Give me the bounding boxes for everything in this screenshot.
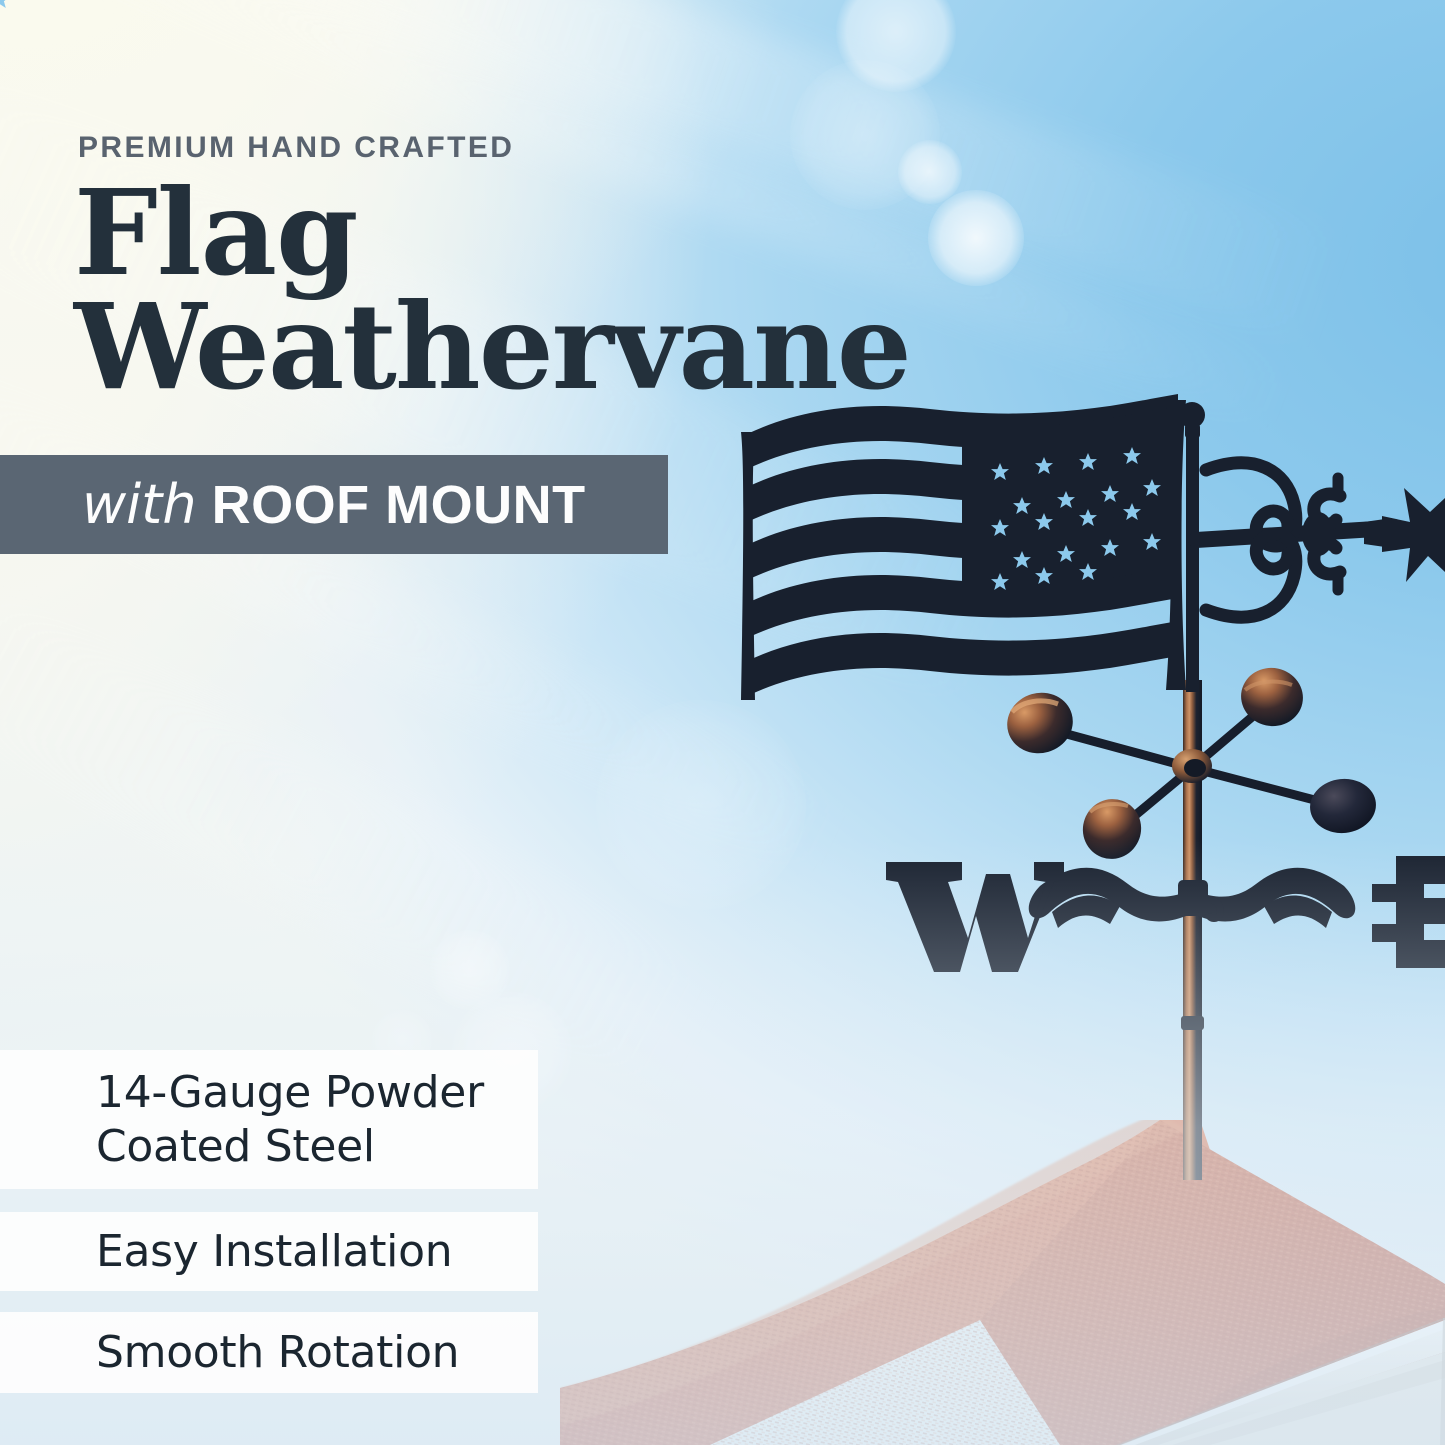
roof-mount-banner: with ROOF MOUNT (0, 455, 668, 554)
product-marketing-image: PREMIUM HAND CRAFTED Flag Weathervane wi… (0, 0, 1445, 1445)
feature-text-1: 14-Gauge Powder Coated Steel (0, 1066, 484, 1174)
banner-text: with ROOF MOUNT (0, 478, 586, 532)
eyebrow-text: PREMIUM HAND CRAFTED (78, 131, 514, 165)
banner-prefix: with (82, 473, 197, 536)
feature-1-line-2: Coated Steel (96, 1120, 484, 1174)
headline-line-1: Flag (74, 176, 910, 290)
feature-3-line-1: Smooth Rotation (96, 1326, 459, 1380)
feature-item-1: 14-Gauge Powder Coated Steel (0, 1050, 538, 1189)
feature-item-2: Easy Installation (0, 1212, 538, 1291)
feature-text-2: Easy Installation (0, 1225, 452, 1279)
feature-2-line-1: Easy Installation (96, 1225, 452, 1279)
feature-text-3: Smooth Rotation (0, 1326, 459, 1380)
feature-1-line-1: 14-Gauge Powder (96, 1066, 484, 1120)
banner-emphasis: ROOF MOUNT (212, 475, 586, 535)
feature-item-3: Smooth Rotation (0, 1312, 538, 1393)
page-title: Flag Weathervane (74, 176, 910, 404)
headline-line-2: Weathervane (74, 290, 910, 404)
